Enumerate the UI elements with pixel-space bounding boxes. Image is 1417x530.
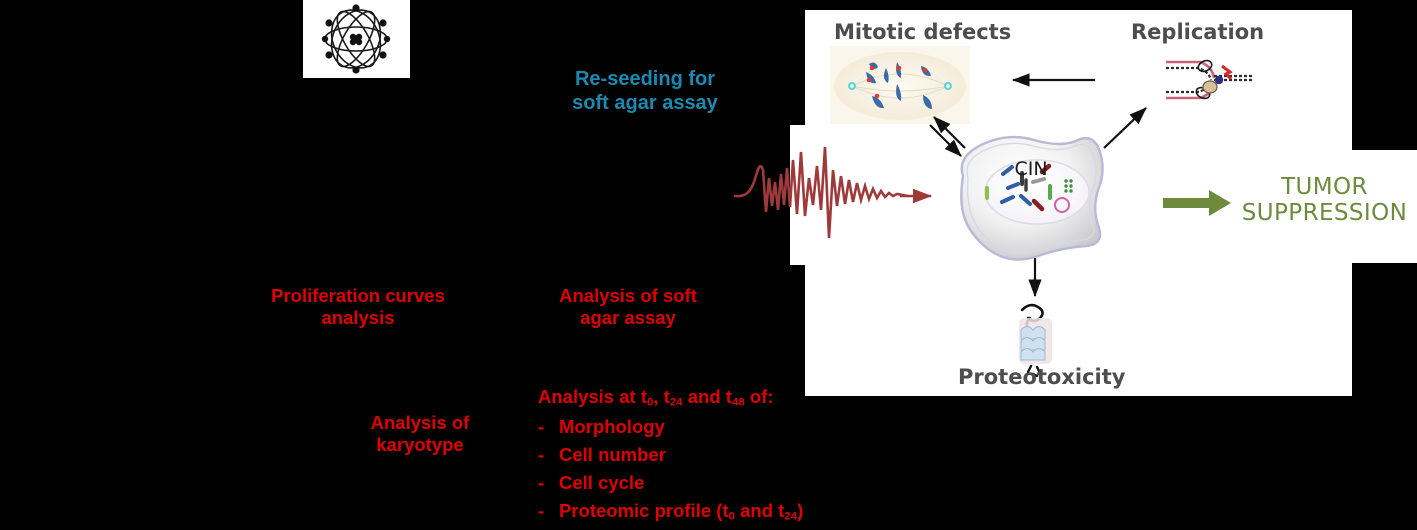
mitotic-spindle-icon bbox=[830, 46, 970, 124]
timepoint-analysis-block: Analysis at t0, t24 and t48 of: - Morpho… bbox=[538, 386, 878, 524]
list-item: - Cell number bbox=[538, 444, 878, 466]
list-item: - Cell cycle bbox=[538, 472, 878, 494]
label-replication: Replication bbox=[1131, 20, 1264, 44]
bullet-marker: - bbox=[538, 472, 552, 494]
diagram-canvas: CIN bbox=[0, 0, 1417, 530]
cin-nucleus-label: CIN bbox=[1014, 158, 1047, 180]
soft-agar-label: Analysis of soft agar assay bbox=[518, 285, 738, 329]
list-item: - Morphology bbox=[538, 416, 878, 438]
list-item-label: Proteomic profile (t0 and t24) bbox=[559, 500, 803, 524]
soft-agar-line-1: Analysis of soft bbox=[518, 285, 738, 307]
list-item-label: Cell cycle bbox=[559, 472, 644, 494]
tumor-suppression-outcome: TUMOR SUPPRESSION bbox=[1232, 174, 1417, 226]
list-item-label: Morphology bbox=[559, 416, 665, 438]
proliferation-line-2: analysis bbox=[248, 307, 468, 329]
tumor-line-2: SUPPRESSION bbox=[1232, 200, 1417, 226]
bullet-marker: - bbox=[538, 444, 552, 466]
tumor-line-1: TUMOR bbox=[1232, 174, 1417, 200]
label-mitotic-defects: Mitotic defects bbox=[834, 20, 1011, 44]
reseeding-line-2: soft agar assay bbox=[520, 92, 770, 116]
karyotype-line-1: Analysis of bbox=[330, 412, 510, 434]
soft-agar-line-2: agar assay bbox=[518, 307, 738, 329]
radiation-beam-icon bbox=[735, 147, 931, 238]
list-item-label: Cell number bbox=[559, 444, 666, 466]
green-block-arrow-icon bbox=[1163, 190, 1231, 216]
karyotype-label: Analysis of karyotype bbox=[330, 412, 510, 456]
arrow-cell-to-replication bbox=[1104, 108, 1146, 148]
cin-cell-icon: CIN bbox=[961, 137, 1102, 259]
list-item: - Proteomic profile (t0 and t24) bbox=[538, 500, 878, 524]
proliferation-line-1: Proliferation curves bbox=[248, 285, 468, 307]
proliferation-label: Proliferation curves analysis bbox=[248, 285, 468, 329]
karyotype-line-2: karyotype bbox=[330, 434, 510, 456]
reseeding-label: Re-seeding for soft agar assay bbox=[520, 68, 770, 115]
bullet-marker: - bbox=[538, 416, 552, 438]
analysis-bullet-list: - Morphology - Cell number - Cell cycle … bbox=[538, 416, 878, 524]
reseeding-line-1: Re-seeding for bbox=[520, 68, 770, 92]
timepoint-analysis-heading: Analysis at t0, t24 and t48 of: bbox=[538, 386, 878, 410]
label-proteotoxicity: Proteotoxicity bbox=[958, 365, 1125, 389]
atom-icon bbox=[322, 2, 390, 76]
replication-fork-icon bbox=[1166, 59, 1252, 101]
bullet-marker: - bbox=[538, 500, 552, 524]
